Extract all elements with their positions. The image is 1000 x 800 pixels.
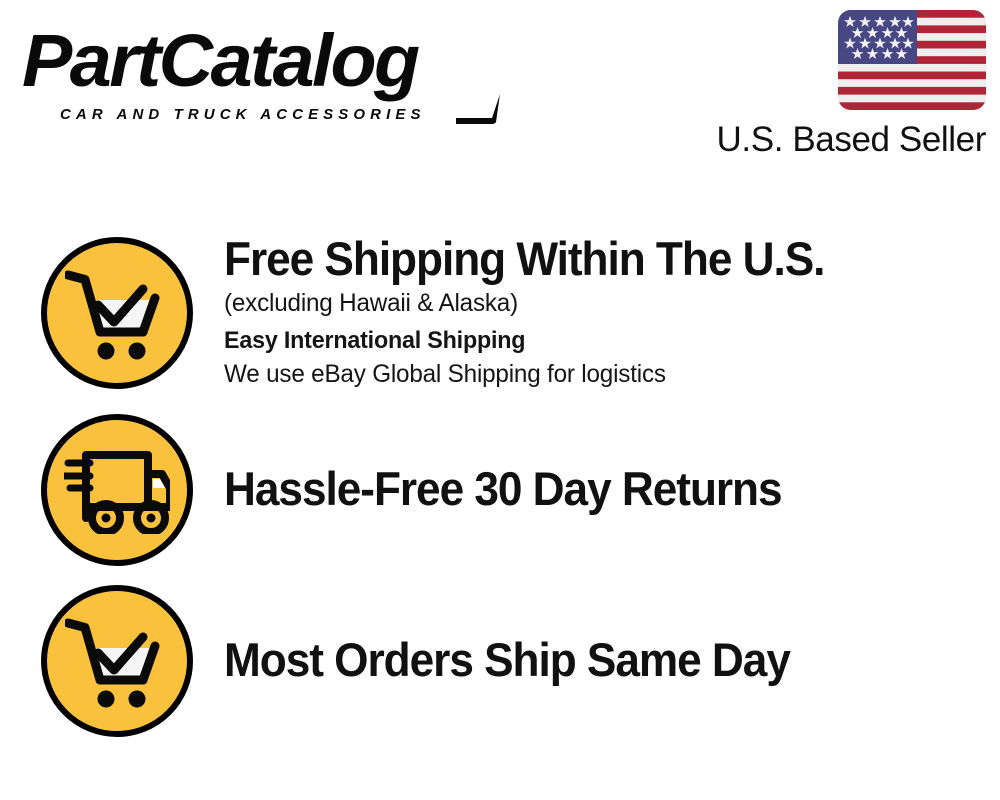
feature-text: Most Orders Ship Same Day	[224, 633, 1000, 689]
feature-headline: Hassle-Free 30 Day Returns	[224, 462, 953, 516]
brand-logo[interactable]: PartCatalog CAR AND TRUCK ACCESSORIES	[22, 22, 492, 117]
feature-row: Hassle-Free 30 Day Returns	[0, 412, 1000, 567]
feature-row: Most Orders Ship Same Day	[0, 583, 1000, 738]
logo-tagline: CAR AND TRUCK ACCESSORIES	[60, 106, 426, 123]
page-header: PartCatalog CAR AND TRUCK ACCESSORIES	[0, 0, 1000, 175]
delivery-truck-icon	[41, 414, 193, 566]
feature-text: Free Shipping Within The U.S. (excluding…	[224, 232, 1000, 393]
us-based-seller-block: U.S. Based Seller	[686, 10, 986, 160]
logo-swoosh-icon	[452, 92, 504, 124]
feature-headline: Most Orders Ship Same Day	[224, 633, 953, 687]
feature-subline: We use eBay Global Shipping for logistic…	[224, 357, 977, 391]
feature-row: Free Shipping Within The U.S. (excluding…	[0, 235, 1000, 390]
feature-subline-strong: Easy International Shipping	[224, 324, 977, 357]
shopping-cart-check-icon	[41, 585, 193, 737]
logo-wordmark: PartCatalog	[22, 22, 418, 100]
feature-headline: Free Shipping Within The U.S.	[224, 232, 953, 286]
us-flag-icon	[838, 10, 986, 110]
feature-text: Hassle-Free 30 Day Returns	[224, 462, 1000, 518]
feature-subline: (excluding Hawaii & Alaska)	[224, 286, 977, 320]
us-based-seller-label: U.S. Based Seller	[686, 120, 986, 160]
shopping-cart-check-icon	[41, 237, 193, 389]
